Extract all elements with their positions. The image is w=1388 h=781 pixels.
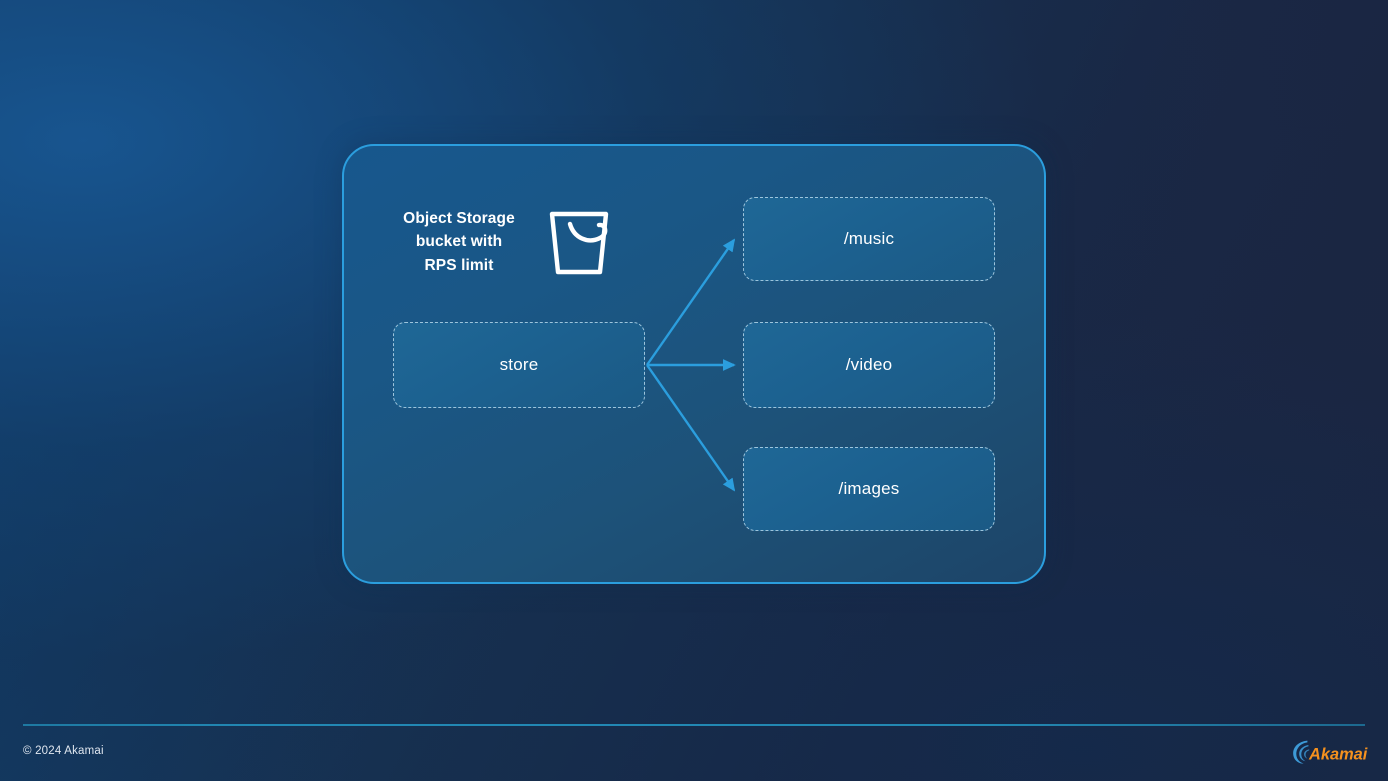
akamai-logo-text: Akamai xyxy=(1308,745,1368,763)
footer-divider xyxy=(23,724,1365,726)
akamai-wave-icon xyxy=(1293,741,1309,764)
copyright-text: © 2024 Akamai xyxy=(23,745,104,757)
akamai-logo: Akamai xyxy=(1291,738,1381,766)
node-store[interactable]: store xyxy=(393,322,645,408)
node-music[interactable]: /music xyxy=(743,197,995,281)
node-video[interactable]: /video xyxy=(743,322,995,408)
bucket-heading-text: Object Storage bucket with RPS limit xyxy=(392,207,526,278)
node-images-label: /images xyxy=(839,479,900,499)
node-video-label: /video xyxy=(846,355,893,375)
node-images[interactable]: /images xyxy=(743,447,995,531)
storage-bucket-icon xyxy=(544,204,620,280)
node-store-label: store xyxy=(500,355,539,375)
slide-canvas: Object Storage bucket with RPS limit sto… xyxy=(0,0,1388,781)
node-music-label: /music xyxy=(844,229,894,249)
bucket-heading-group: Object Storage bucket with RPS limit xyxy=(392,196,642,288)
